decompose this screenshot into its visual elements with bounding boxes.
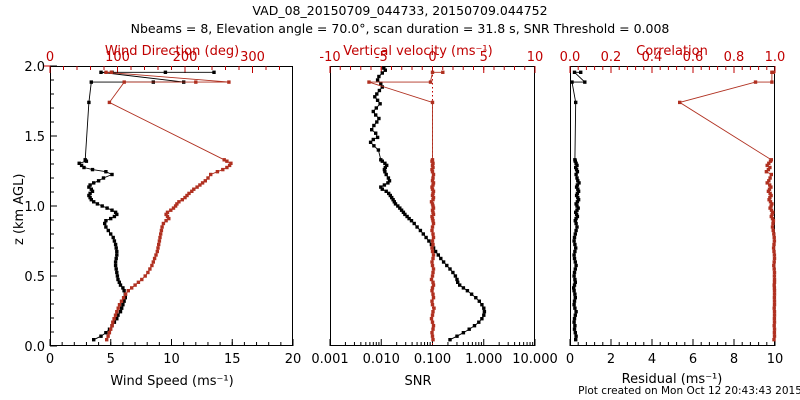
svg-text:0.5: 0.5 — [24, 270, 45, 285]
svg-text:0.0: 0.0 — [24, 340, 45, 355]
svg-text:0.6: 0.6 — [683, 50, 704, 65]
svg-text:5: 5 — [107, 352, 115, 367]
svg-text:15: 15 — [224, 352, 241, 367]
svg-text:0.010: 0.010 — [363, 352, 400, 367]
svg-text:0.4: 0.4 — [642, 50, 663, 65]
svg-text:0: 0 — [46, 352, 54, 367]
svg-text:10.000: 10.000 — [512, 352, 558, 367]
svg-text:6: 6 — [689, 352, 697, 367]
svg-text:0: 0 — [46, 50, 54, 65]
svg-text:5: 5 — [480, 50, 488, 65]
svg-text:0.100: 0.100 — [414, 352, 451, 367]
svg-text:10: 10 — [767, 352, 784, 367]
svg-text:2: 2 — [607, 352, 615, 367]
svg-text:0.001: 0.001 — [311, 352, 348, 367]
svg-text:1.0: 1.0 — [24, 200, 45, 215]
svg-text:-5: -5 — [375, 50, 388, 65]
plot-overlay: 0.00.51.01.52.00510152001002003000.0010.… — [0, 0, 800, 400]
vad-plot-figure: VAD_08_20150709_044733, 20150709.044752 … — [0, 0, 800, 400]
svg-text:300: 300 — [240, 50, 265, 65]
svg-text:0: 0 — [566, 352, 574, 367]
svg-text:1.5: 1.5 — [24, 130, 45, 145]
svg-text:0.0: 0.0 — [560, 50, 581, 65]
svg-text:0: 0 — [428, 50, 436, 65]
svg-text:0.2: 0.2 — [601, 50, 622, 65]
svg-text:1.0: 1.0 — [765, 50, 786, 65]
svg-text:2.0: 2.0 — [24, 60, 45, 75]
svg-text:4: 4 — [648, 352, 656, 367]
svg-text:10: 10 — [527, 50, 544, 65]
svg-text:200: 200 — [173, 50, 198, 65]
svg-text:0.8: 0.8 — [724, 50, 745, 65]
svg-text:10: 10 — [163, 352, 180, 367]
svg-text:8: 8 — [730, 352, 738, 367]
svg-text:20: 20 — [285, 352, 302, 367]
svg-text:1.000: 1.000 — [465, 352, 502, 367]
svg-text:-10: -10 — [319, 50, 340, 65]
svg-text:100: 100 — [105, 50, 130, 65]
